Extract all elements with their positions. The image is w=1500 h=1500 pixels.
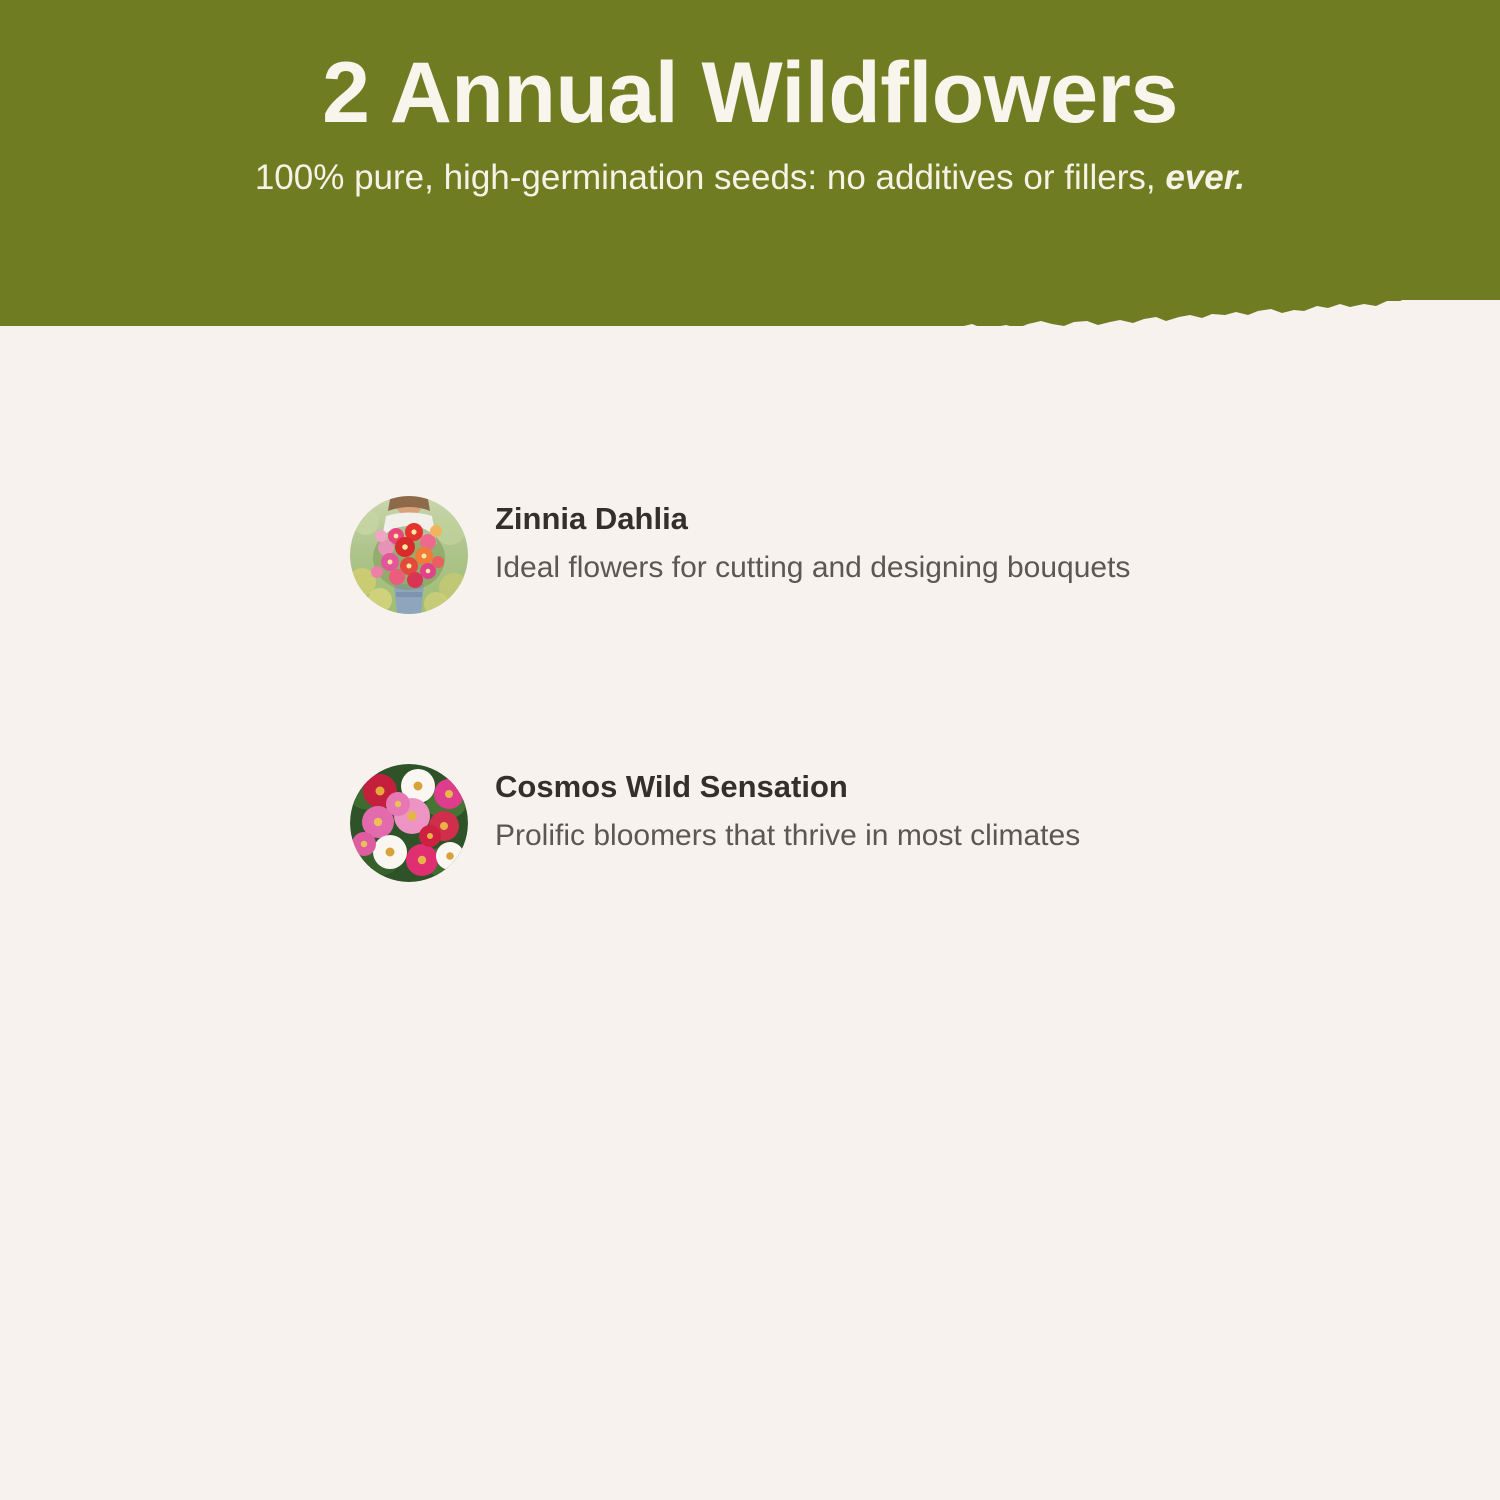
- feature-name: Cosmos Wild Sensation: [495, 768, 1080, 807]
- page-title: 2 Annual Wildflowers: [0, 48, 1500, 139]
- zinnia-bouquet-photo-icon: [350, 496, 468, 614]
- page-subtitle-emphasis: ever.: [1165, 158, 1245, 197]
- feature-description: Ideal flowers for cutting and designing …: [495, 539, 1130, 587]
- feature-name: Zinnia Dahlia: [495, 500, 1130, 539]
- feature-description: Prolific bloomers that thrive in most cl…: [495, 807, 1080, 855]
- cosmos-flowers-photo-icon: [350, 764, 468, 882]
- feature-row-cosmos-wild-sensation: Cosmos Wild Sensation Prolific bloomers …: [0, 738, 1500, 882]
- page-subtitle: 100% pure, high-germination seeds: no ad…: [0, 139, 1500, 199]
- feature-text-cosmos-wild-sensation: Cosmos Wild Sensation Prolific bloomers …: [468, 738, 1080, 855]
- feature-text-zinnia-dahlia: Zinnia Dahlia Ideal flowers for cutting …: [468, 470, 1130, 587]
- feature-row-zinnia-dahlia: Zinnia Dahlia Ideal flowers for cutting …: [0, 470, 1500, 614]
- header-banner: 2 Annual Wildflowers 100% pure, high-ger…: [0, 0, 1500, 300]
- page-subtitle-lead: 100% pure, high-germination seeds: no ad…: [255, 158, 1166, 197]
- feature-list: Zinnia Dahlia Ideal flowers for cutting …: [0, 470, 1500, 1006]
- header-content: 2 Annual Wildflowers 100% pure, high-ger…: [0, 0, 1500, 199]
